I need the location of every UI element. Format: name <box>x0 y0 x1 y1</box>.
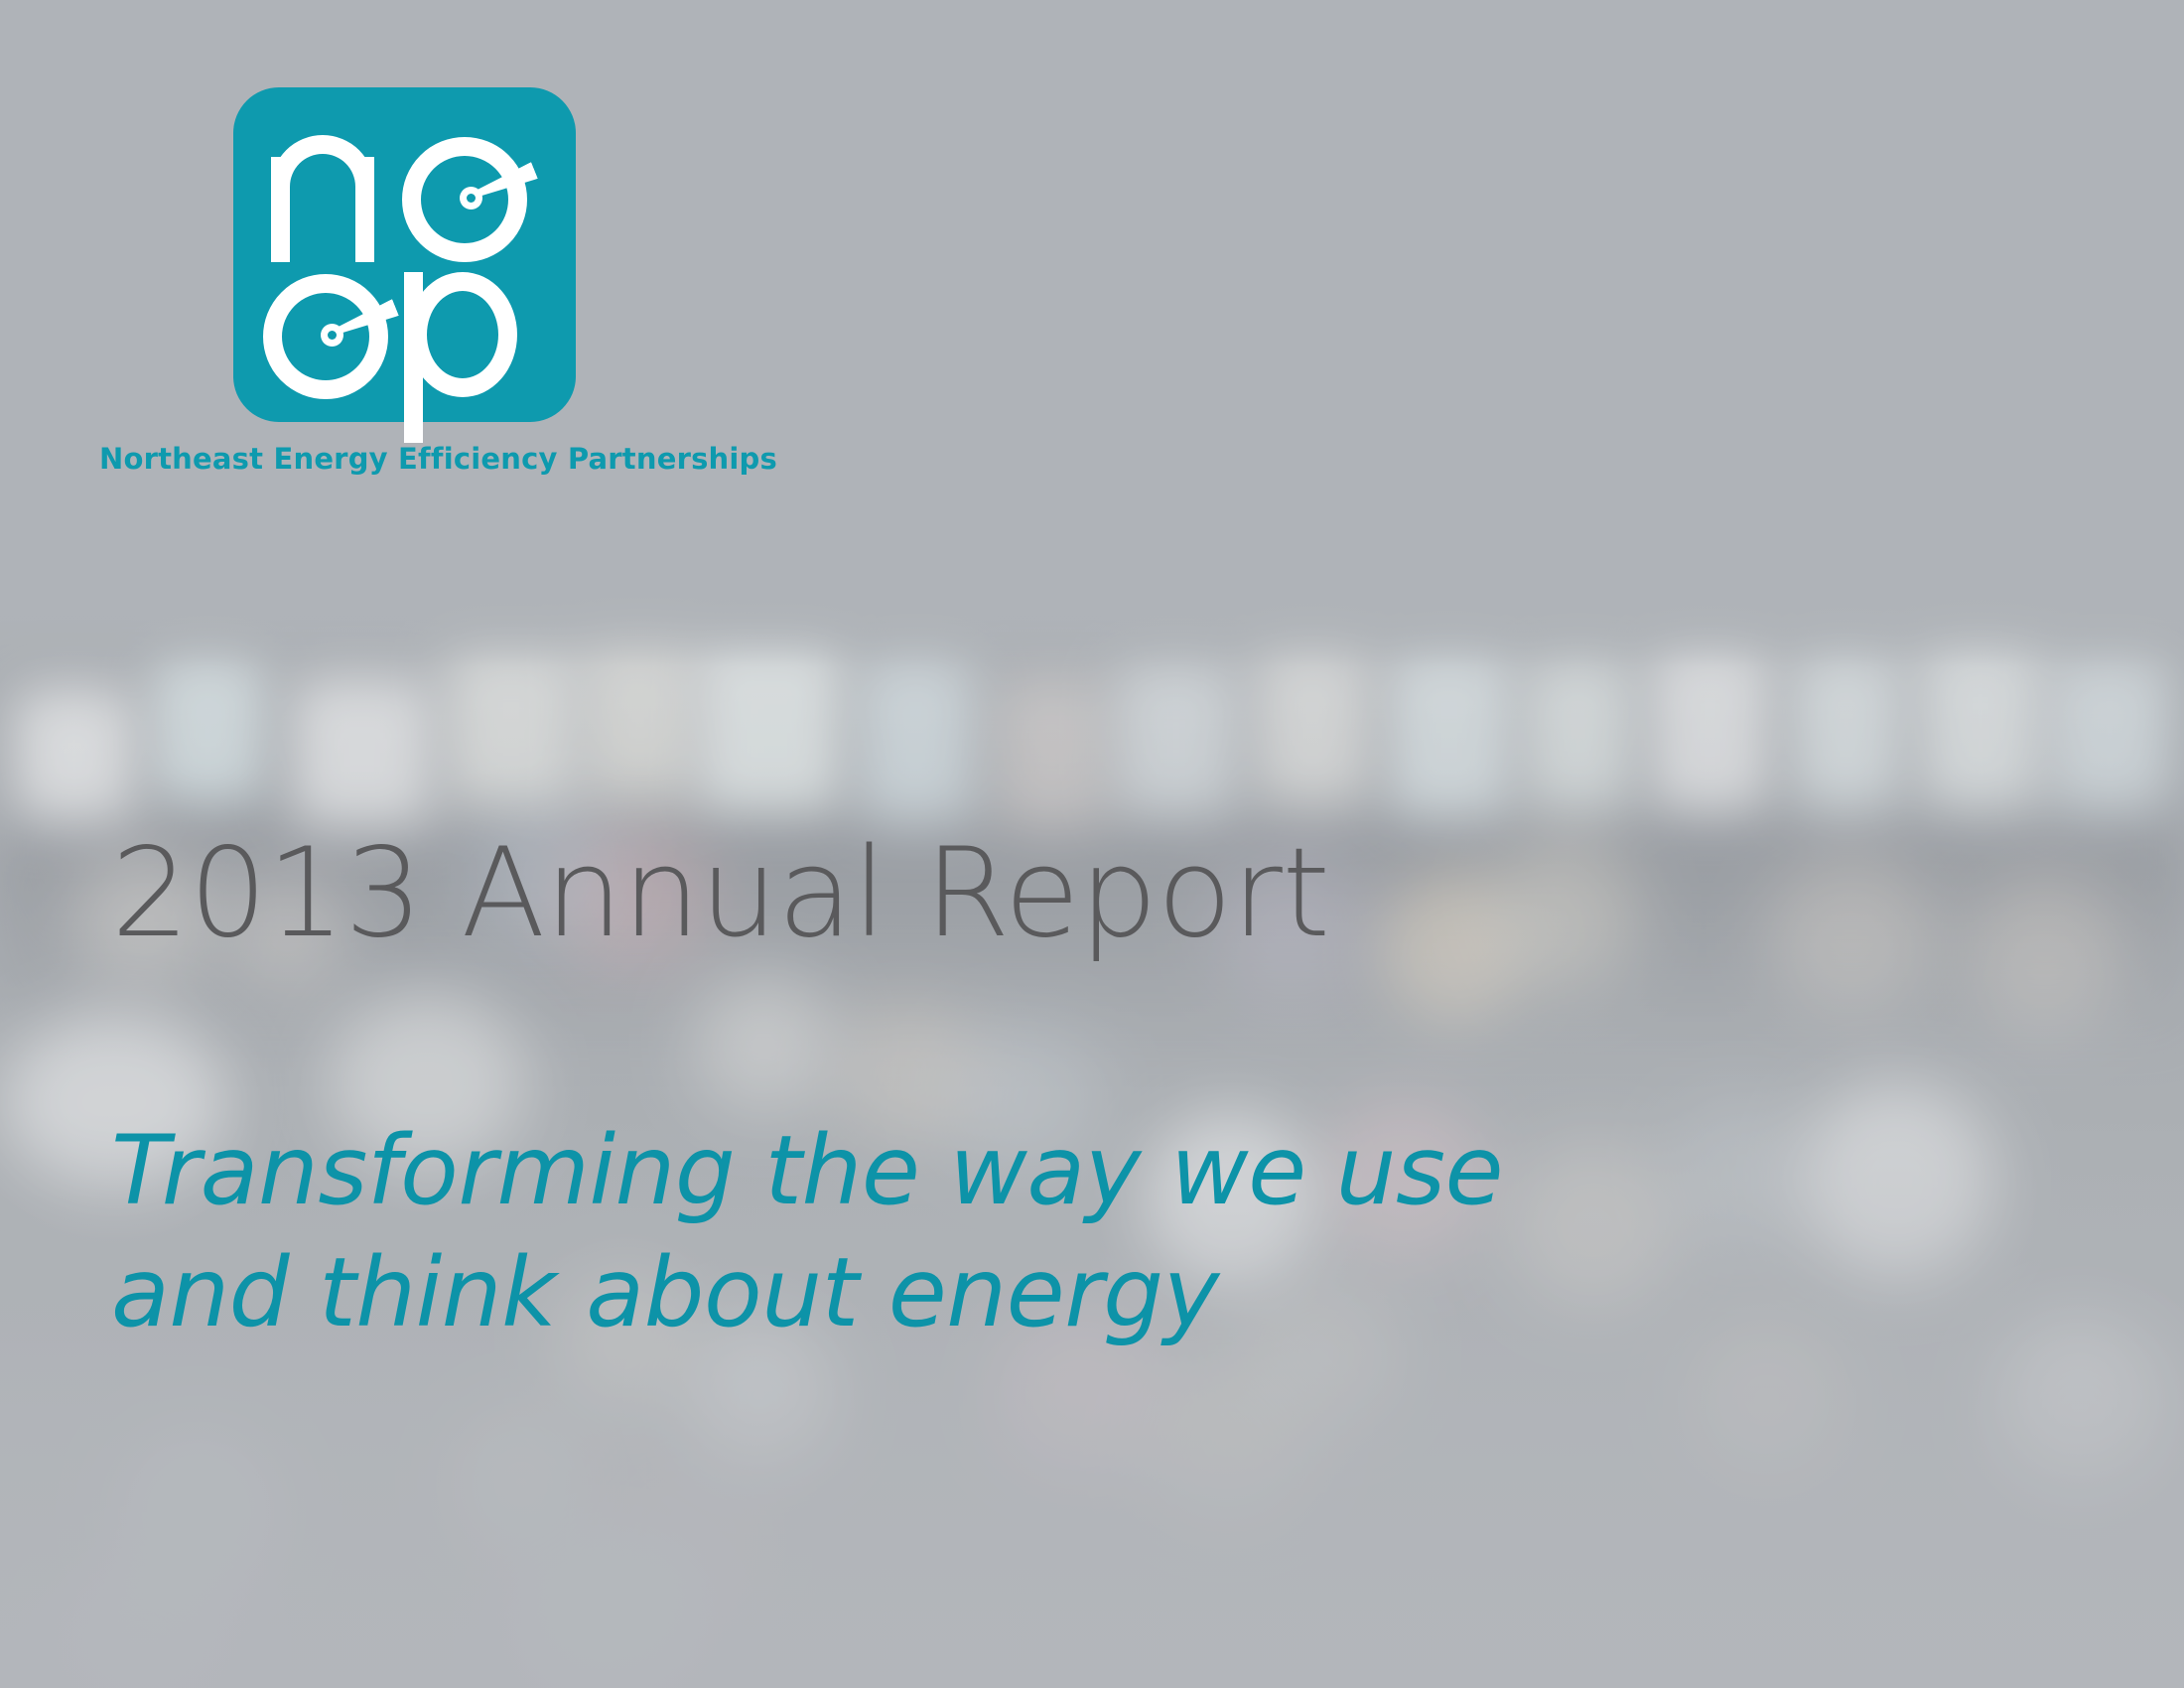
logo-lockup[interactable]: Northeast Energy Efficiency Partnerships <box>99 87 913 476</box>
page-title: 2013 Annual Report <box>111 832 1330 955</box>
cover-subtitle-line-1: Transforming the way we use <box>111 1110 1503 1232</box>
logo-letter-p-icon <box>404 272 515 443</box>
cover-subtitle-line-2: and think about energy <box>111 1232 1503 1354</box>
logo-letter-e-top-icon <box>402 137 527 262</box>
logo-letter-n-icon <box>271 135 374 262</box>
neep-logo-mark[interactable] <box>233 87 576 422</box>
report-cover-page: Northeast Energy Efficiency Partnerships… <box>0 0 2184 1688</box>
cover-subtitle: Transforming the way we use and think ab… <box>111 1110 1503 1354</box>
logo-letter-e-bottom-icon <box>263 274 388 399</box>
organization-name: Northeast Energy Efficiency Partnerships <box>99 442 913 476</box>
